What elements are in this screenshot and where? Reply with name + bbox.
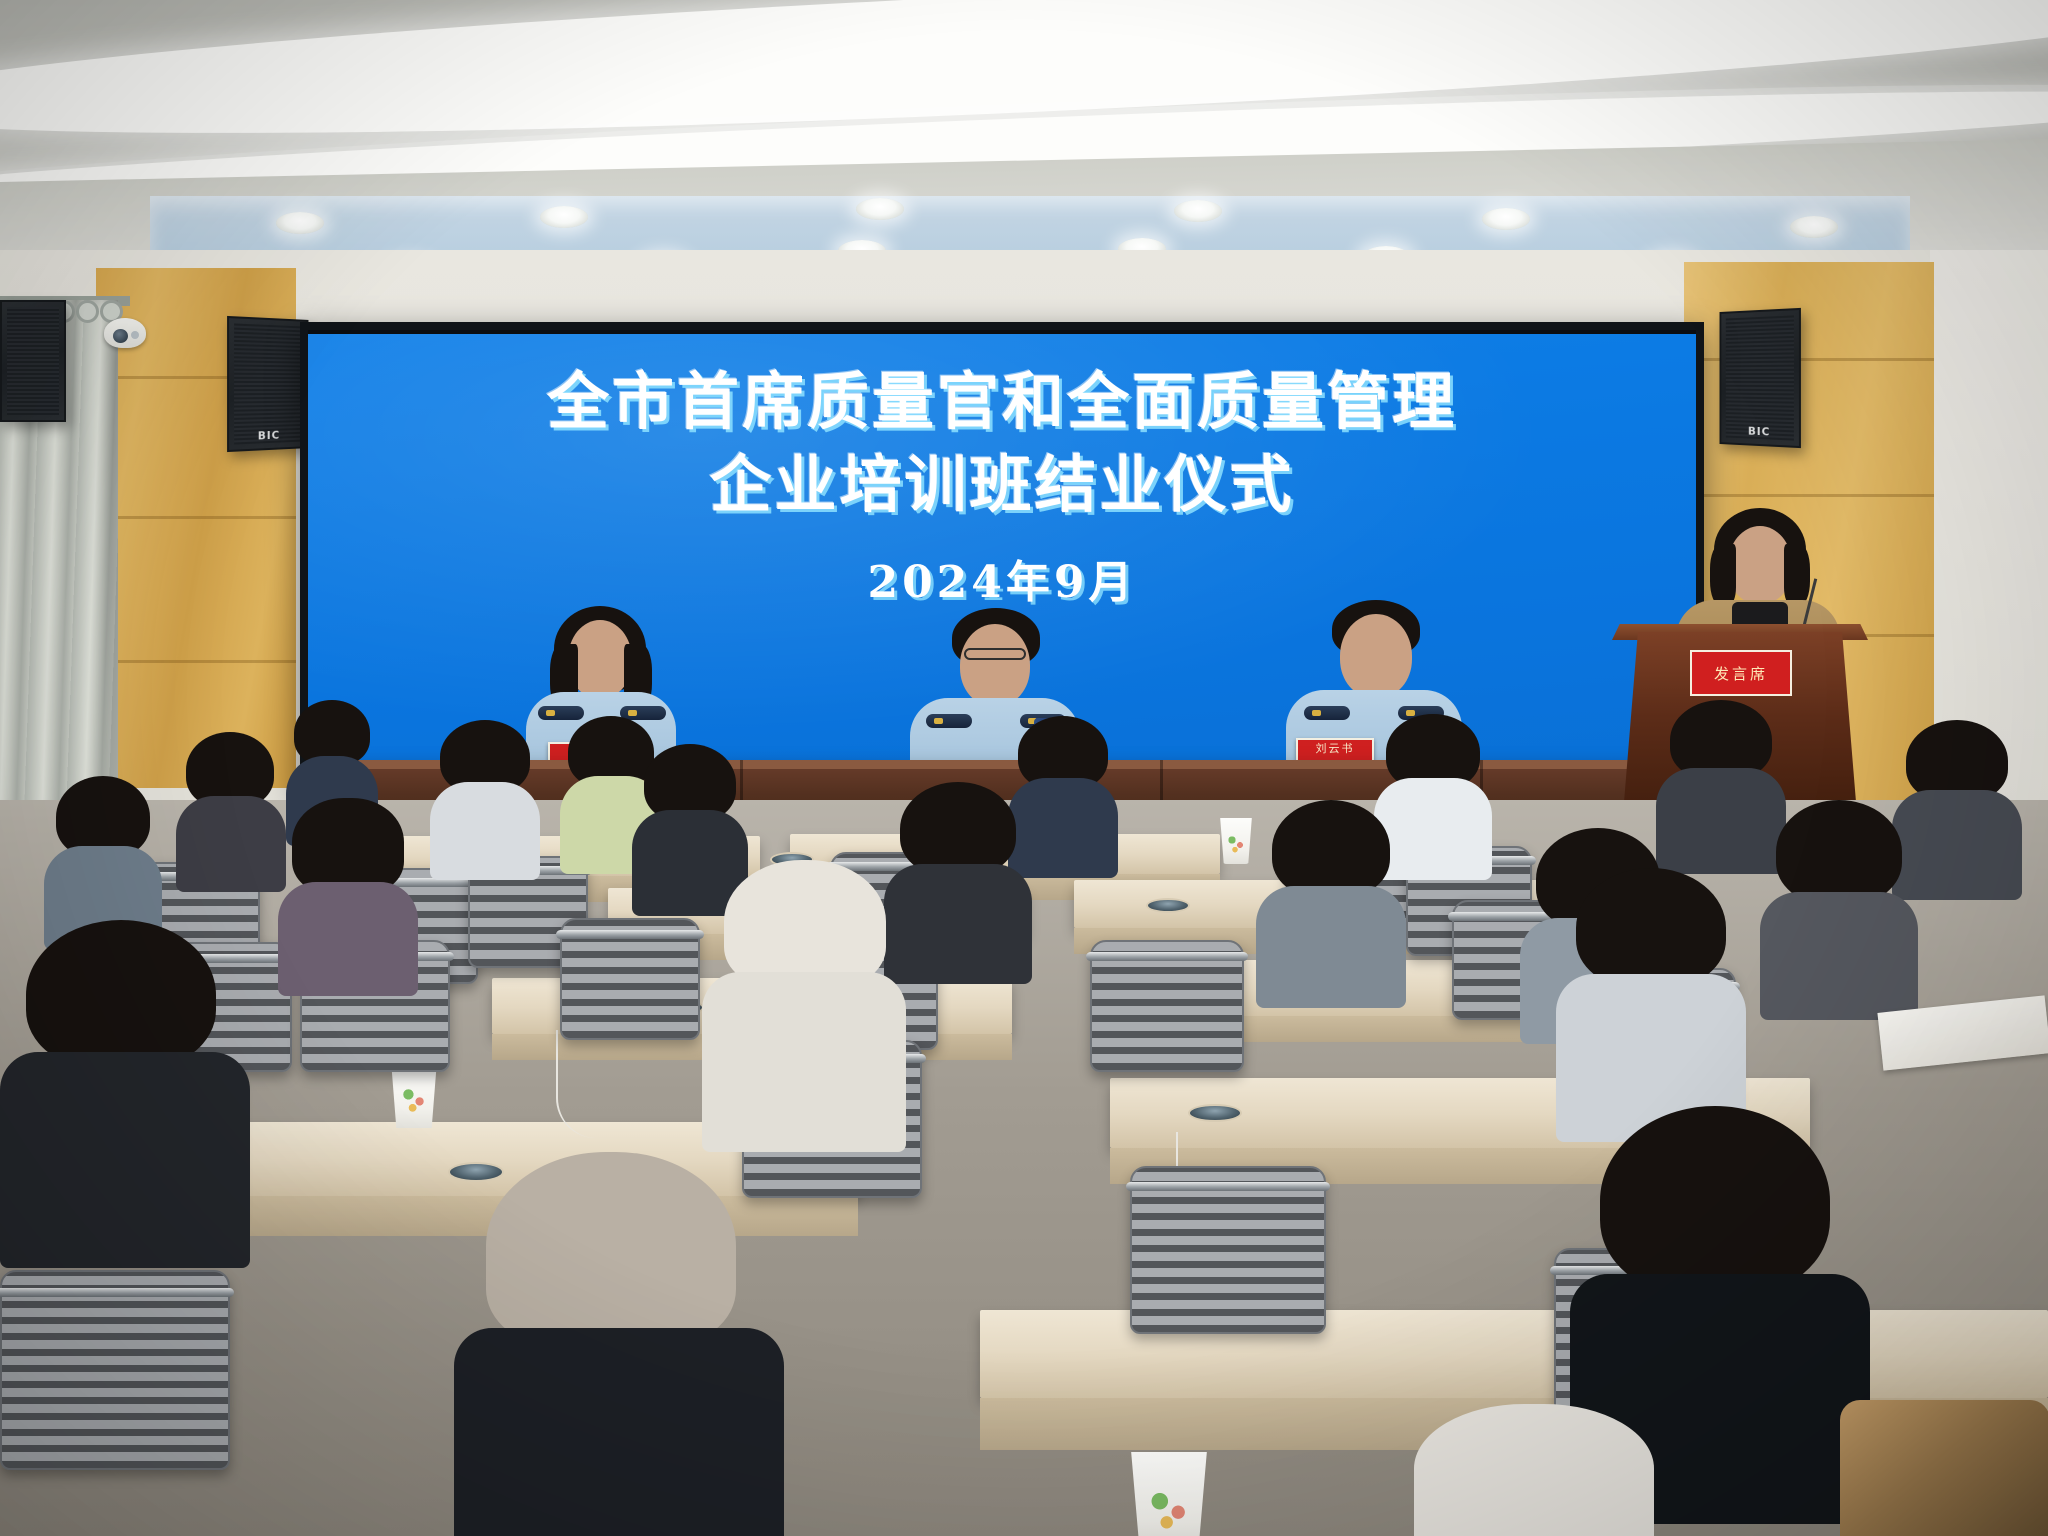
chair[interactable] <box>0 1270 230 1470</box>
screen-date: 2024年9月 <box>308 546 1696 610</box>
chair[interactable] <box>1130 1166 1326 1334</box>
wall-speaker-icon: BIC <box>227 316 308 452</box>
audience-person <box>44 776 162 936</box>
cable-grommet <box>1188 1104 1242 1122</box>
audience-person <box>430 720 540 870</box>
audience-person <box>454 1152 784 1536</box>
paper-cup <box>1126 1452 1212 1536</box>
audience-person <box>278 798 418 978</box>
audience-person <box>0 920 250 1250</box>
speaker-brand-mark: BIC <box>258 429 280 443</box>
audience-person <box>1556 868 1746 1128</box>
audience-person <box>1386 1404 1686 1536</box>
downlight-icon <box>1482 208 1530 230</box>
power-cable <box>556 1030 618 1138</box>
paper-cup <box>1218 818 1254 864</box>
downlight-icon <box>856 198 904 220</box>
cable-grommet <box>1146 898 1190 913</box>
curtain-ring-icon <box>76 300 99 323</box>
audience-person <box>176 732 286 882</box>
wall-speaker-icon: BIC <box>1720 308 1801 448</box>
podium-sign-text: 发言席 <box>1714 663 1768 684</box>
speaker-brand-mark: BIC <box>1748 425 1770 439</box>
audience-person <box>1256 800 1406 990</box>
name-plate-text: 刘云书 <box>1298 740 1372 758</box>
audience-person <box>1760 800 1918 1000</box>
security-camera-icon <box>104 318 146 348</box>
audience-person <box>702 860 906 1140</box>
downlight-icon <box>1174 200 1222 222</box>
screen-title-line-1: 全市首席质量官和全面质量管理 <box>308 360 1696 443</box>
podium-sign: 发言席 <box>1690 650 1792 696</box>
eyeglasses-icon <box>964 648 1026 660</box>
audience-person <box>1840 1400 2048 1536</box>
downlight-icon <box>276 212 324 234</box>
chair[interactable] <box>1090 940 1244 1072</box>
downlight-icon <box>1790 216 1838 238</box>
screen-title: 全市首席质量官和全面质量管理 企业培训班结业仪式 <box>308 360 1696 526</box>
audience-person <box>884 782 1032 972</box>
wall-speaker-icon <box>0 300 66 422</box>
conference-room-photo: BIC BIC 全市首席质量官和全面质量管理 企业培训班结业仪式 2024年9月 <box>0 0 2048 1536</box>
chair[interactable] <box>560 918 700 1040</box>
downlight-icon <box>540 206 588 228</box>
screen-title-line-2: 企业培训班结业仪式 <box>308 443 1696 526</box>
